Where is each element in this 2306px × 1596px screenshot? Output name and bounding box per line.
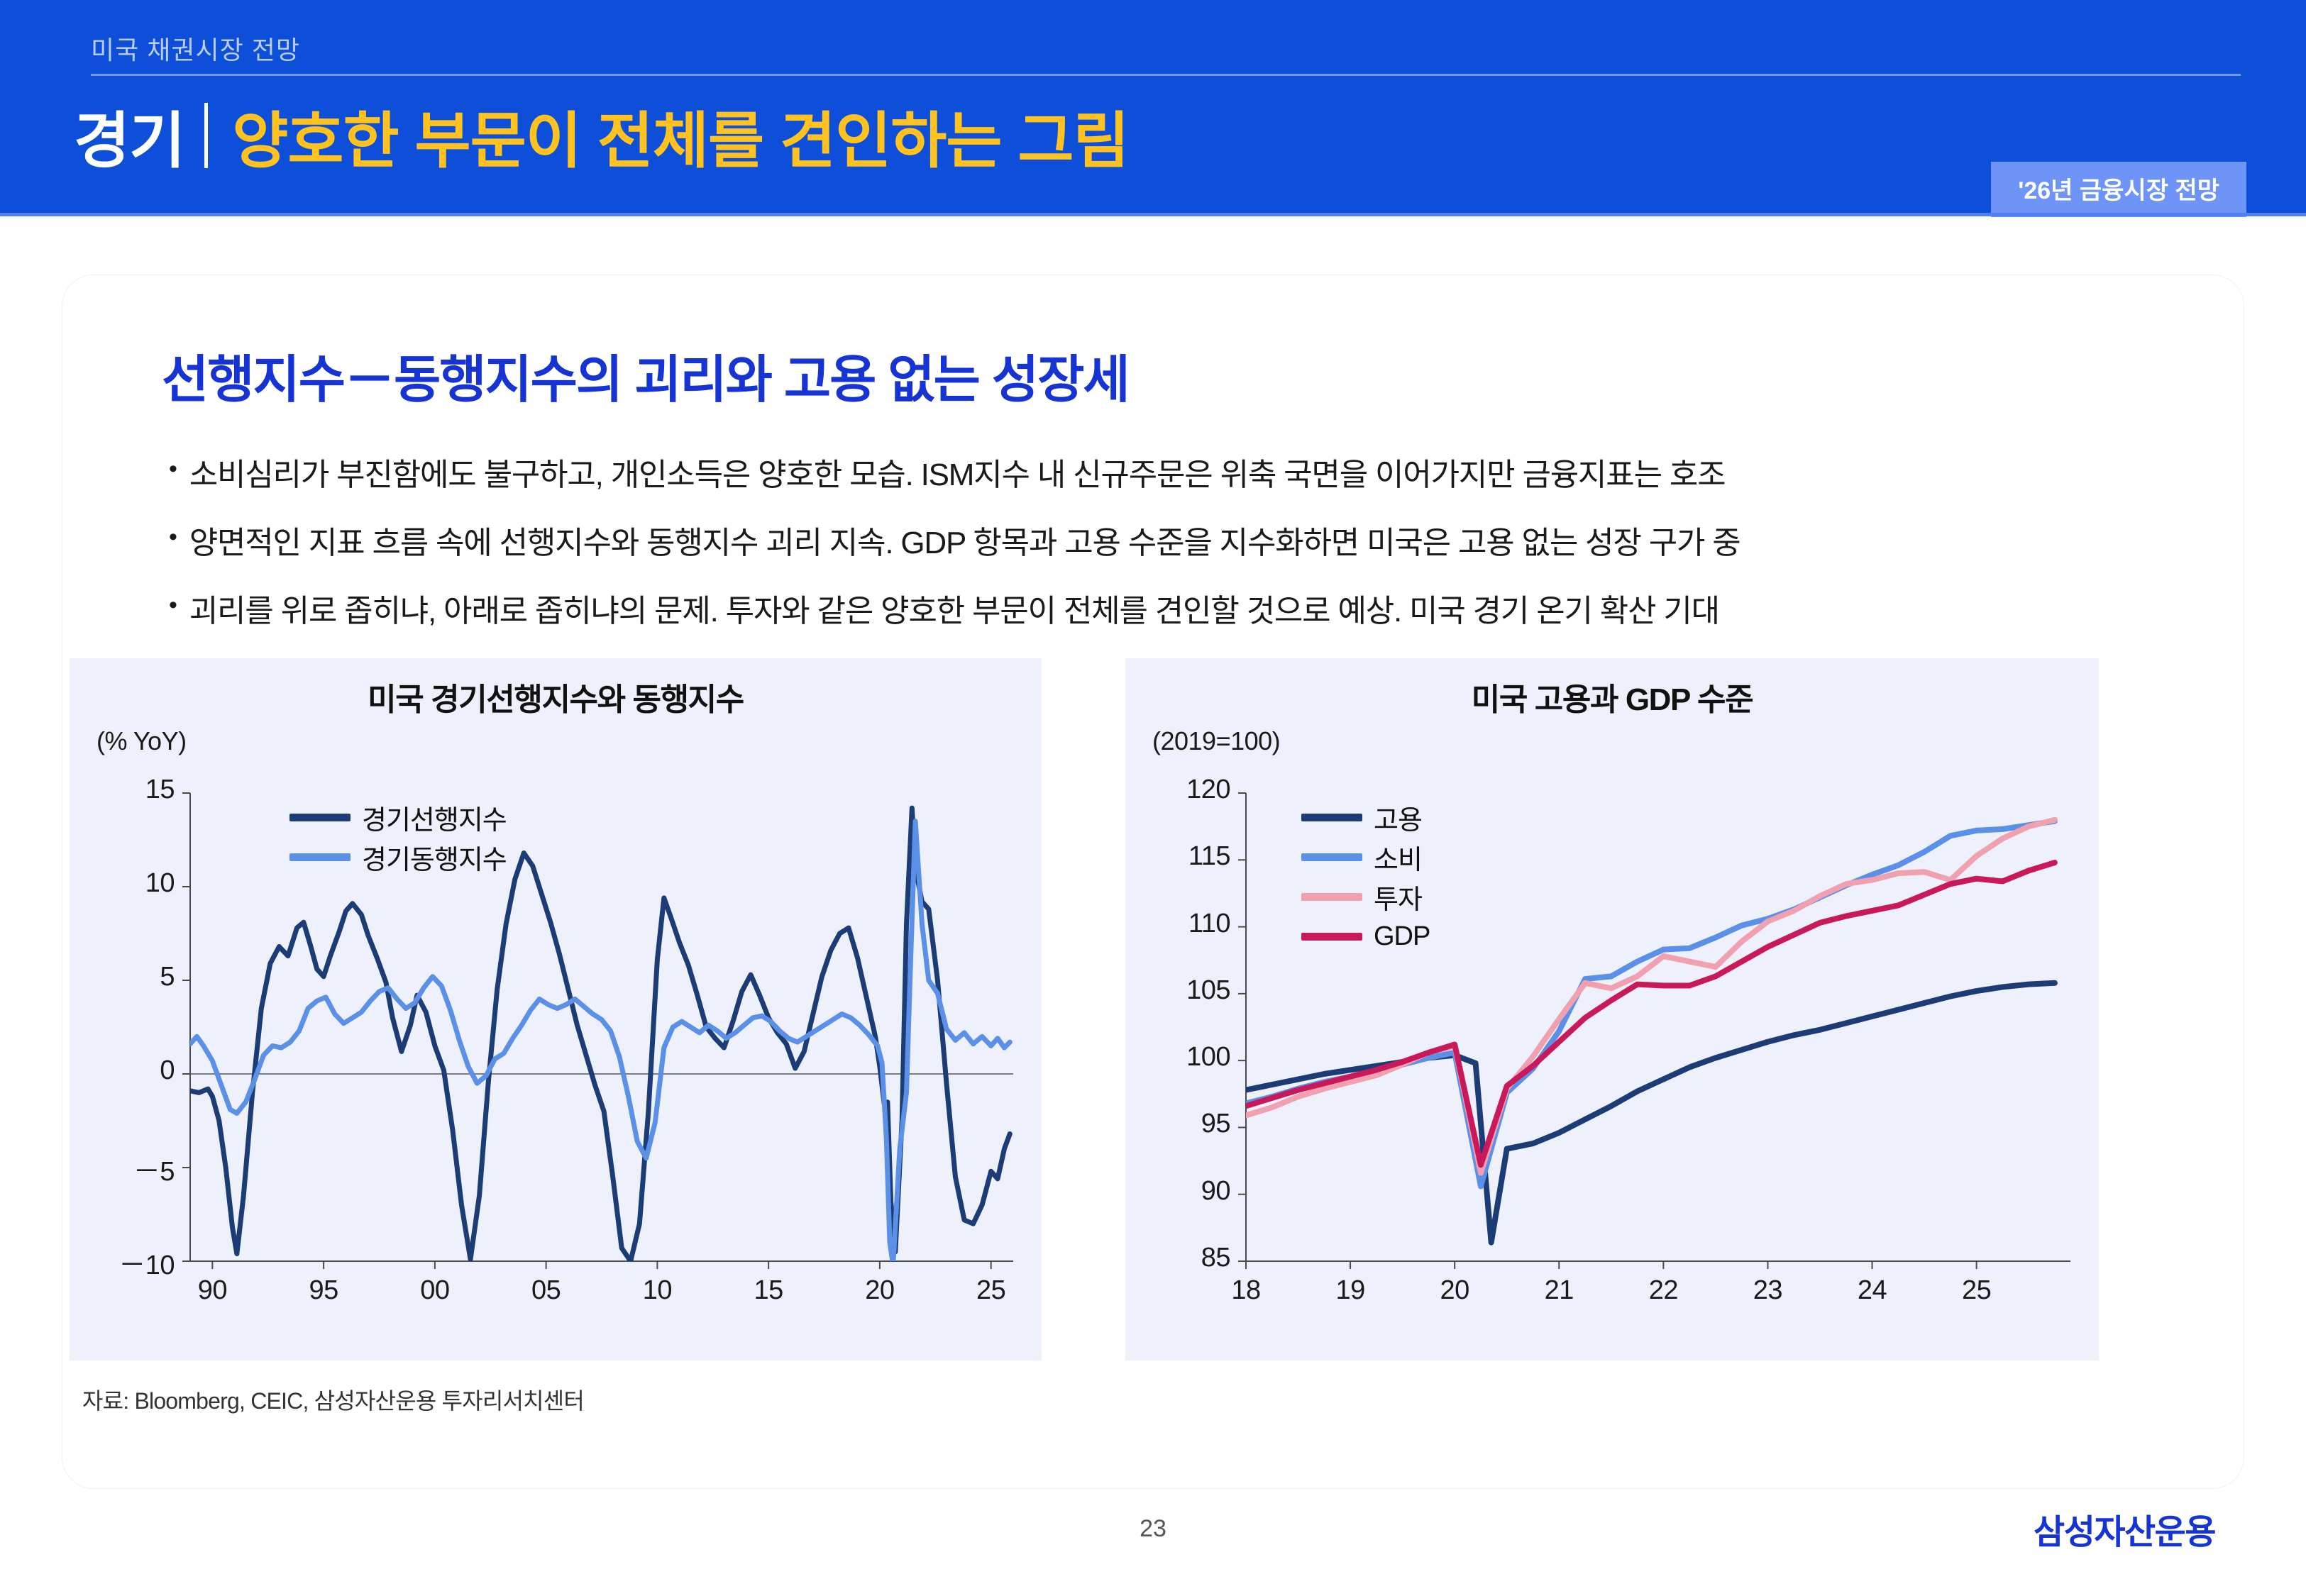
x-axis-tick-label: 23 [1753, 1275, 1782, 1306]
x-axis-tick-label: 19 [1335, 1275, 1364, 1306]
bullet-marker-icon: • [169, 517, 177, 557]
bullet-item: • 소비심리가 부진함에도 불구하고, 개인소득은 양호한 모습. ISM지수 … [169, 449, 1725, 494]
y-axis-tick-label: 120 [1186, 775, 1230, 805]
legend-label: 경기선행지수 [362, 798, 507, 837]
legend-entry: 소비 [1301, 837, 1430, 877]
legend-label: 경기동행지수 [362, 838, 507, 877]
title-divider [204, 103, 208, 168]
x-axis-tick-label: 24 [1858, 1275, 1887, 1306]
y-axis-tick-label: 15 [145, 775, 175, 805]
legend-swatch-investment [1301, 893, 1362, 901]
brand-logo: 삼성자산운용 [2034, 1504, 2215, 1553]
legend-entry: GDP [1301, 916, 1430, 956]
legend-entry: 경기선행지수 [289, 797, 507, 837]
slide-header: 미국 채권시장 전망 경기 양호한 부문이 전체를 견인하는 그림 '26년 금… [0, 0, 2306, 213]
header-underline [0, 213, 2306, 216]
x-axis-tick-label: 05 [531, 1275, 561, 1306]
x-axis-tick-label: 25 [976, 1275, 1005, 1306]
header-title-row: 경기 양호한 부문이 전체를 견인하는 그림 [74, 91, 1129, 179]
legend-label: GDP [1374, 921, 1430, 952]
y-axis-tick-label: 105 [1186, 975, 1230, 1006]
bullet-text: 양면적인 지표 흐름 속에 선행지수와 동행지수 괴리 지속. GDP 항목과 … [189, 517, 1740, 563]
title-category-label: 경기 [74, 91, 184, 179]
legend-entry: 투자 [1301, 877, 1430, 916]
x-axis-tick-label: 20 [1440, 1275, 1469, 1306]
y-axis-tick-label: 100 [1186, 1042, 1230, 1073]
legend-label: 소비 [1374, 838, 1422, 877]
page-number: 23 [0, 1515, 2306, 1543]
header-divider-rule [91, 74, 2241, 76]
content-card: 선행지수－동행지수의 괴리와 고용 없는 성장세 • 소비심리가 부진함에도 불… [62, 275, 2244, 1488]
chart-legend: 고용 소비 투자 GDP [1301, 797, 1430, 956]
x-axis-tick-label: 25 [1962, 1275, 1991, 1306]
legend-label: 고용 [1374, 798, 1422, 837]
chart-plot-area [70, 658, 1042, 1361]
x-axis-tick-label: 95 [309, 1275, 338, 1306]
bullet-marker-icon: • [169, 585, 177, 625]
bullet-item: • 괴리를 위로 좁히냐, 아래로 좁히냐의 문제. 투자와 같은 양호한 부문… [169, 585, 1719, 631]
x-axis-tick-label: 00 [420, 1275, 449, 1306]
x-axis-tick-label: 22 [1649, 1275, 1678, 1306]
header-kicker: 미국 채권시장 전망 [91, 30, 300, 67]
y-axis-tick-label: 0 [160, 1055, 175, 1086]
legend-label: 투자 [1374, 877, 1422, 916]
y-axis-tick-label: 10 [145, 868, 175, 899]
bullet-item: • 양면적인 지표 흐름 속에 선행지수와 동행지수 괴리 지속. GDP 항목… [169, 517, 1740, 563]
legend-entry: 경기동행지수 [289, 837, 507, 877]
y-axis-tick-label: 95 [1201, 1109, 1230, 1139]
bullet-text: 소비심리가 부진함에도 불구하고, 개인소득은 양호한 모습. ISM지수 내 … [189, 449, 1726, 494]
legend-swatch-consumption [1301, 853, 1362, 861]
y-axis-tick-label: 85 [1201, 1243, 1230, 1273]
y-axis-tick-label: 115 [1188, 841, 1230, 872]
x-axis-tick-label: 18 [1231, 1275, 1260, 1306]
x-axis-tick-label: 15 [754, 1275, 783, 1306]
bullet-text: 괴리를 위로 좁히냐, 아래로 좁히냐의 문제. 투자와 같은 양호한 부문이 … [189, 585, 1719, 631]
series-badge: '26년 금융시장 전망 [1991, 162, 2246, 217]
y-axis-tick-label: －5 [133, 1149, 175, 1188]
legend-swatch-employment [1301, 814, 1362, 821]
x-axis-tick-label: 21 [1545, 1275, 1574, 1306]
legend-swatch-coincident [289, 853, 351, 861]
chart-panel-employment-gdp: 미국 고용과 GDP 수준 (2019=100) 고용 소비 투자 GDP 12… [1125, 658, 2099, 1361]
page-title: 양호한 부문이 전체를 견인하는 그림 [232, 91, 1128, 179]
chart-plot-area [1125, 658, 2099, 1361]
legend-swatch-leading [289, 814, 351, 821]
chart-panel-leading-coincident: 미국 경기선행지수와 동행지수 (% YoY) 경기선행지수 경기동행지수 15… [70, 658, 1042, 1361]
x-axis-tick-label: 90 [198, 1275, 227, 1306]
y-axis-tick-label: 90 [1201, 1176, 1230, 1207]
x-axis-tick-label: 10 [643, 1275, 672, 1306]
legend-entry: 고용 [1301, 797, 1430, 837]
source-note: 자료: Bloomberg, CEIC, 삼성자산운용 투자리서치센터 [82, 1383, 584, 1416]
y-axis-tick-label: 5 [160, 962, 175, 992]
chart-legend: 경기선행지수 경기동행지수 [289, 797, 507, 877]
y-axis-tick-label: 110 [1188, 909, 1230, 939]
y-axis-tick-label: －10 [118, 1243, 175, 1282]
bullet-marker-icon: • [169, 449, 177, 489]
x-axis-tick-label: 20 [865, 1275, 894, 1306]
section-title: 선행지수－동행지수의 괴리와 고용 없는 성장세 [162, 338, 1129, 412]
legend-swatch-gdp [1301, 933, 1362, 941]
